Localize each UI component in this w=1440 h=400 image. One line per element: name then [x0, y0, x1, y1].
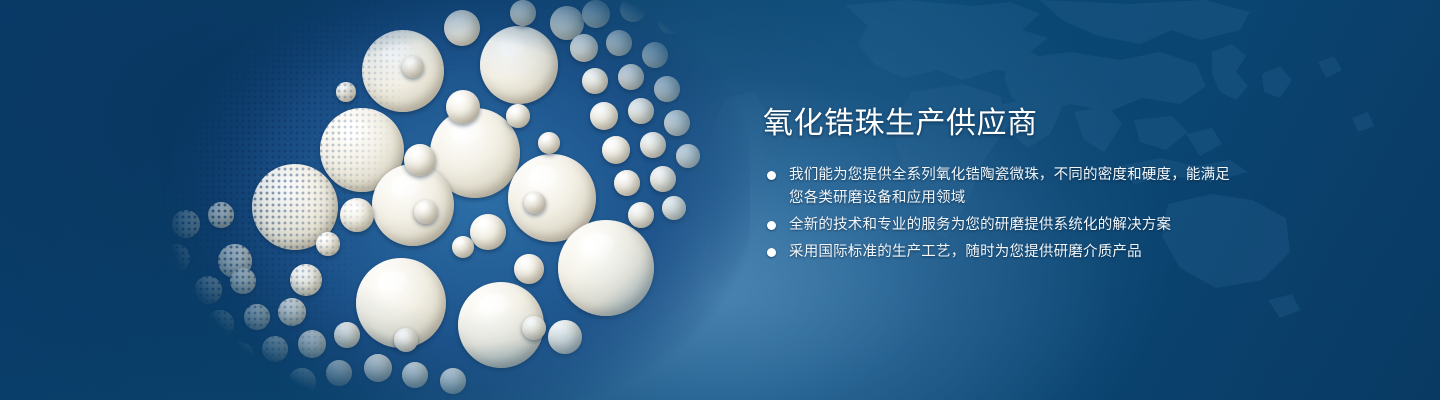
bullet-dot-icon — [767, 248, 776, 257]
list-item: 全新的技术和专业的服务为您的研磨提供系统化的解决方案 — [763, 214, 1233, 237]
halftone-overlay — [150, 0, 750, 400]
zirconia-beads-image — [150, 0, 750, 400]
bullet-dot-icon — [767, 221, 776, 230]
hero-banner: 氧化锆珠生产供应商 我们能为您提供全系列氧化锆陶瓷微珠，不同的密度和硬度，能满足… — [0, 0, 1440, 400]
banner-copy: 氧化锆珠生产供应商 我们能为您提供全系列氧化锆陶瓷微珠，不同的密度和硬度，能满足… — [763, 104, 1233, 268]
bullet-dot-icon — [767, 171, 776, 180]
feature-list: 我们能为您提供全系列氧化锆陶瓷微珠，不同的密度和硬度，能满足您各类研磨设备和应用… — [763, 164, 1233, 264]
list-item: 采用国际标准的生产工艺，随时为您提供研磨介质产品 — [763, 241, 1233, 264]
list-item-label: 我们能为您提供全系列氧化锆陶瓷微珠，不同的密度和硬度，能满足您各类研磨设备和应用… — [789, 167, 1230, 206]
list-item: 我们能为您提供全系列氧化锆陶瓷微珠，不同的密度和硬度，能满足您各类研磨设备和应用… — [763, 164, 1233, 210]
list-item-label: 全新的技术和专业的服务为您的研磨提供系统化的解决方案 — [789, 217, 1171, 233]
list-item-label: 采用国际标准的生产工艺，随时为您提供研磨介质产品 — [789, 244, 1142, 260]
page-title: 氧化锆珠生产供应商 — [763, 104, 1233, 144]
